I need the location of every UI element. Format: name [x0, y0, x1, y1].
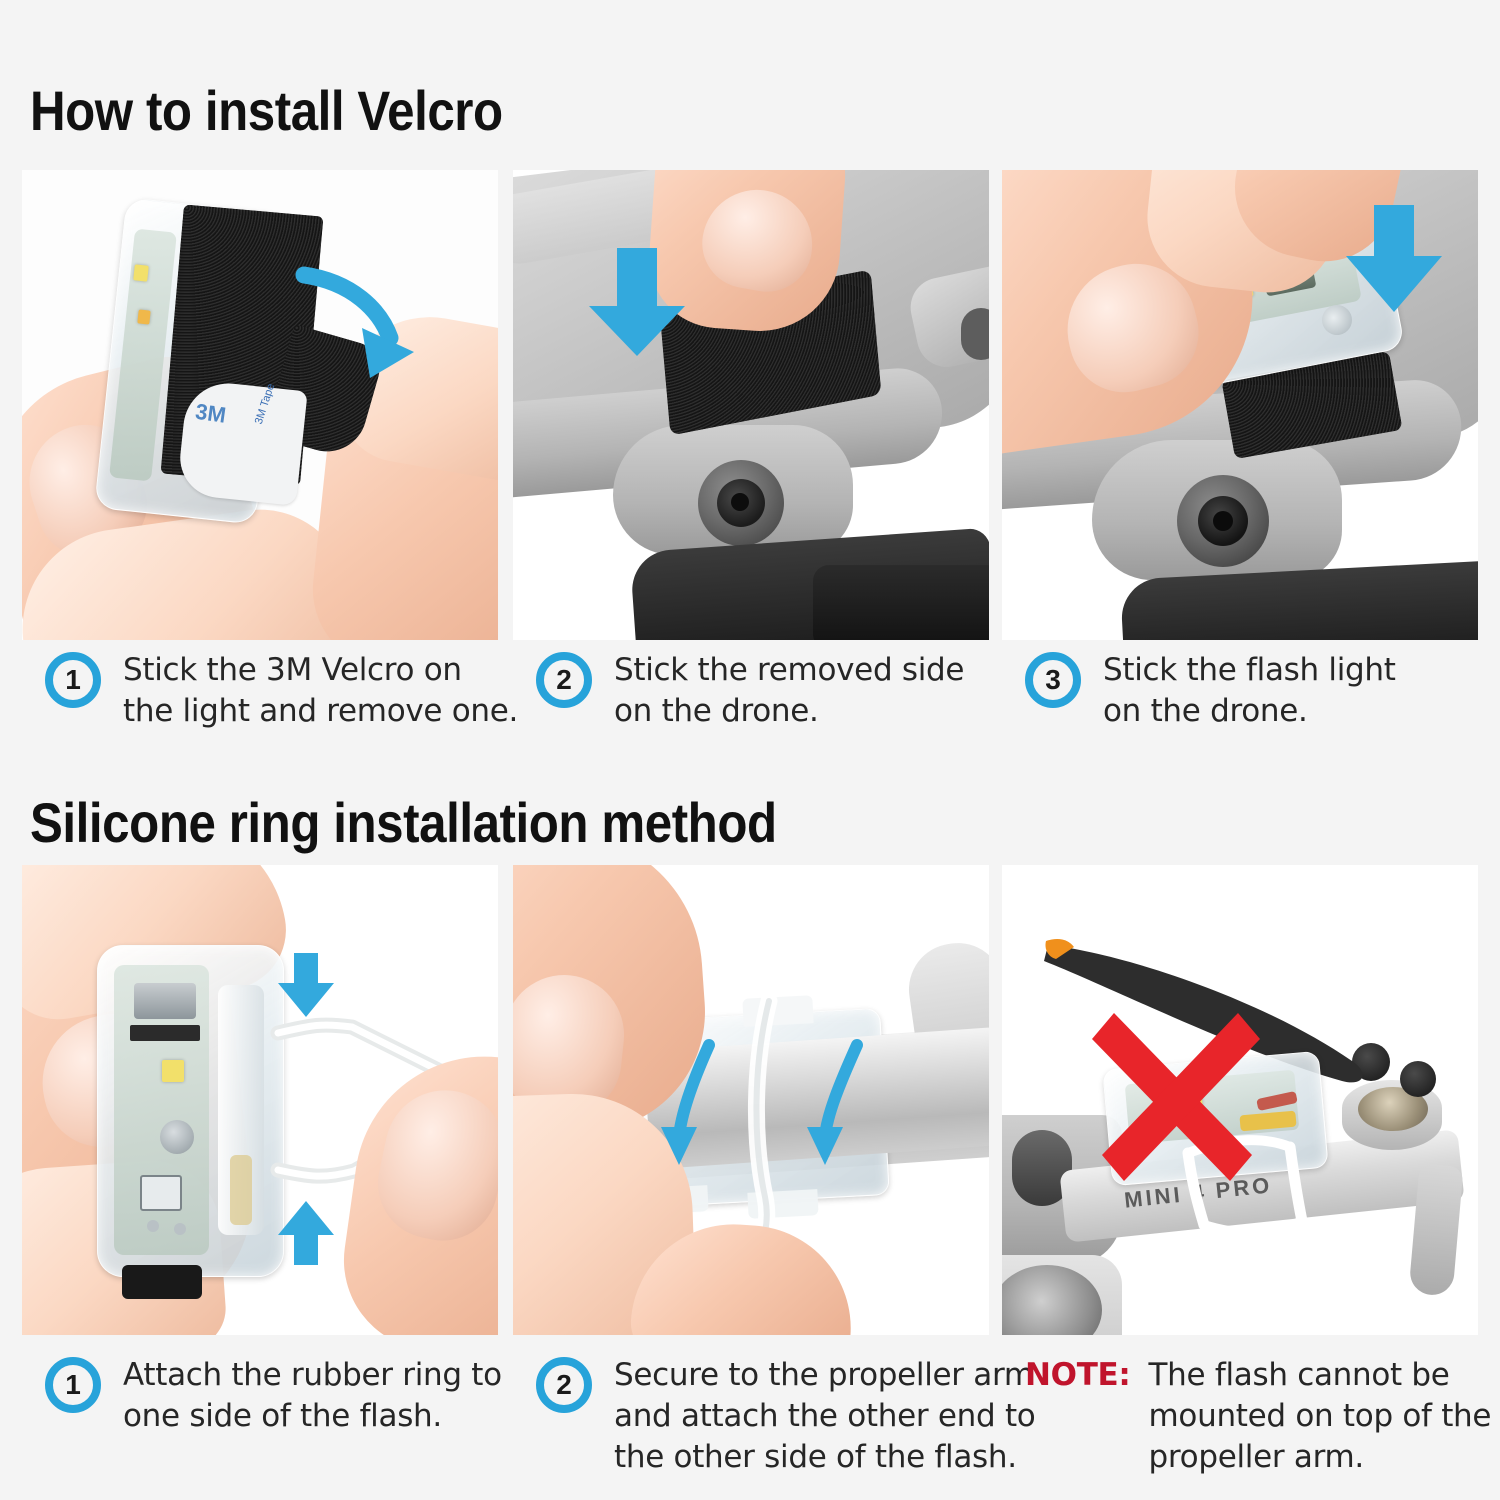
caption-text-3: Stick the flash light on the drone. — [1103, 650, 1396, 732]
velcro-on-light-panel: 3M 3M Tape — [22, 170, 498, 640]
step-badge-1: 1 — [45, 652, 101, 708]
silicone-caption-row: 1 Attach the rubber ring to one side of … — [0, 1355, 1500, 1495]
flash-on-drone-photo — [1002, 170, 1478, 640]
blue-curved-arrows-icon — [513, 865, 989, 1335]
caption-velcro-2: 2 Stick the removed side on the drone. — [536, 650, 964, 732]
page-title-silicone: Silicone ring installation method — [30, 790, 777, 855]
silicone-photo-row: MINI 4 PRO — [0, 865, 1500, 1335]
red-cross-icon — [1002, 865, 1478, 1335]
caption-note: NOTE: The flash cannot be mounted on top… — [1025, 1355, 1491, 1478]
blue-curved-arrow-icon — [22, 170, 498, 640]
incorrect-mount-photo: MINI 4 PRO — [1002, 865, 1478, 1335]
step-badge-2: 2 — [536, 1357, 592, 1413]
page-title-velcro: How to install Velcro — [30, 78, 503, 143]
blue-converging-arrows-icon — [22, 865, 498, 1335]
velcro-on-drone-panel — [513, 170, 989, 640]
incorrect-mount-panel: MINI 4 PRO — [1002, 865, 1478, 1335]
step-badge-2: 2 — [536, 652, 592, 708]
flash-on-drone-panel — [1002, 170, 1478, 640]
caption-text-1: Stick the 3M Velcro on the light and rem… — [123, 650, 518, 732]
attach-ring-panel — [22, 865, 498, 1335]
note-label: NOTE: — [1025, 1357, 1131, 1393]
blue-down-arrow-icon — [1002, 170, 1478, 640]
attach-ring-photo — [22, 865, 498, 1335]
note-text: The flash cannot be mounted on top of th… — [1149, 1355, 1492, 1478]
caption-text-2: Stick the removed side on the drone. — [614, 650, 964, 732]
caption-silicone-2: 2 Secure to the propeller arm and attach… — [536, 1355, 1035, 1478]
velcro-photo-row: 3M 3M Tape — [0, 170, 1500, 640]
step-badge-3: 3 — [1025, 652, 1081, 708]
caption-velcro-3: 3 Stick the flash light on the drone. — [1025, 650, 1396, 732]
secure-to-arm-panel — [513, 865, 989, 1335]
velcro-caption-row: 1 Stick the 3M Velcro on the light and r… — [0, 650, 1500, 750]
blue-down-arrow-icon — [513, 170, 989, 640]
secure-to-arm-photo — [513, 865, 989, 1335]
velcro-on-drone-photo — [513, 170, 989, 640]
caption-text-2: Secure to the propeller arm and attach t… — [614, 1355, 1035, 1478]
caption-text-1: Attach the rubber ring to one side of th… — [123, 1355, 502, 1437]
velcro-on-light-photo: 3M 3M Tape — [22, 170, 498, 640]
caption-silicone-1: 1 Attach the rubber ring to one side of … — [45, 1355, 502, 1437]
step-badge-1: 1 — [45, 1357, 101, 1413]
page-root: How to install Velcro — [0, 0, 1500, 1500]
caption-velcro-1: 1 Stick the 3M Velcro on the light and r… — [45, 650, 518, 732]
